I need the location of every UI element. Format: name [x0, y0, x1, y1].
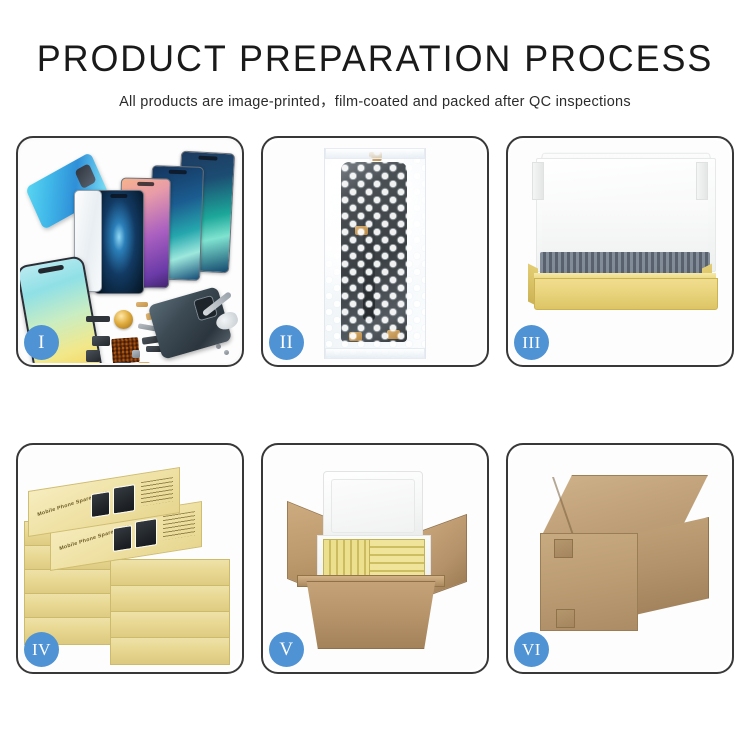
step-badge-1: I — [24, 325, 59, 360]
box-lid-flap-right-icon — [696, 162, 708, 200]
box-window-phone-icon — [91, 491, 110, 518]
tan-clip-part-icon — [136, 302, 148, 307]
yellow-boxes-row-icon — [369, 539, 425, 579]
vibrator-part-icon — [138, 362, 150, 363]
box-window-phone-icon — [113, 484, 135, 514]
screw-part-icon — [132, 350, 140, 358]
step-badge-2: II — [269, 325, 304, 360]
screw-part-icon — [216, 344, 221, 349]
step-badge-3: III — [514, 325, 549, 360]
gold-component-icon — [114, 310, 133, 329]
foam-liner-icon — [542, 200, 708, 252]
process-step-panel-6[interactable]: VI — [506, 443, 734, 674]
step-badge-6: VI — [514, 632, 549, 667]
screw-part-icon — [224, 350, 229, 355]
bubble-wrap-bag-icon — [324, 148, 426, 359]
socket-part-icon — [92, 336, 110, 346]
bag-seal-bottom-icon — [325, 348, 425, 359]
carton-seam-icon — [562, 477, 686, 535]
retail-box-stack-icon: Mobile Phone Spare Parts Mobile Phone Sp… — [24, 463, 240, 663]
process-step-panel-3[interactable]: III — [506, 136, 734, 367]
carton-handle-tab-icon — [556, 609, 575, 628]
process-step-panel-1[interactable]: I — [16, 136, 244, 367]
page-subtitle: All products are image-printed，film-coat… — [0, 90, 750, 111]
box-window-phone-icon — [135, 518, 157, 548]
phone-notch-icon — [110, 194, 127, 198]
box-spec-lines-icon — [141, 477, 173, 506]
camera-module-part-icon — [116, 362, 131, 363]
box-lid-flap-left-icon — [532, 162, 544, 200]
carton-handle-tab-icon — [554, 539, 573, 558]
step-badge-4: IV — [24, 632, 59, 667]
box-spec-lines-icon — [163, 511, 195, 540]
phone-notch-icon — [198, 156, 217, 161]
process-step-panel-5[interactable]: V — [261, 443, 489, 674]
box-tray-front-icon — [534, 278, 718, 310]
process-step-panel-4[interactable]: Mobile Phone Spare Parts Mobile Phone Sp… — [16, 443, 244, 674]
carton-front-icon — [301, 581, 441, 649]
process-step-grid: I II — [16, 136, 734, 674]
page-title: PRODUCT PREPARATION PROCESS — [11, 40, 739, 79]
carton-side-icon — [635, 517, 709, 615]
bag-seal-top-icon — [325, 148, 425, 159]
box-window-phone-icon — [113, 525, 132, 552]
bubble-texture-icon — [325, 148, 425, 359]
step-badge-5: V — [269, 632, 304, 667]
flex-cable-part-icon — [86, 316, 110, 322]
phone-notch-icon — [169, 170, 187, 175]
phone-notch-icon — [137, 182, 154, 186]
process-step-panel-2[interactable]: II — [261, 136, 489, 367]
foam-lid-icon — [323, 471, 423, 541]
header: PRODUCT PREPARATION PROCESS All products… — [0, 0, 750, 111]
retail-box-edge — [110, 637, 230, 665]
button-part-icon — [86, 350, 100, 362]
